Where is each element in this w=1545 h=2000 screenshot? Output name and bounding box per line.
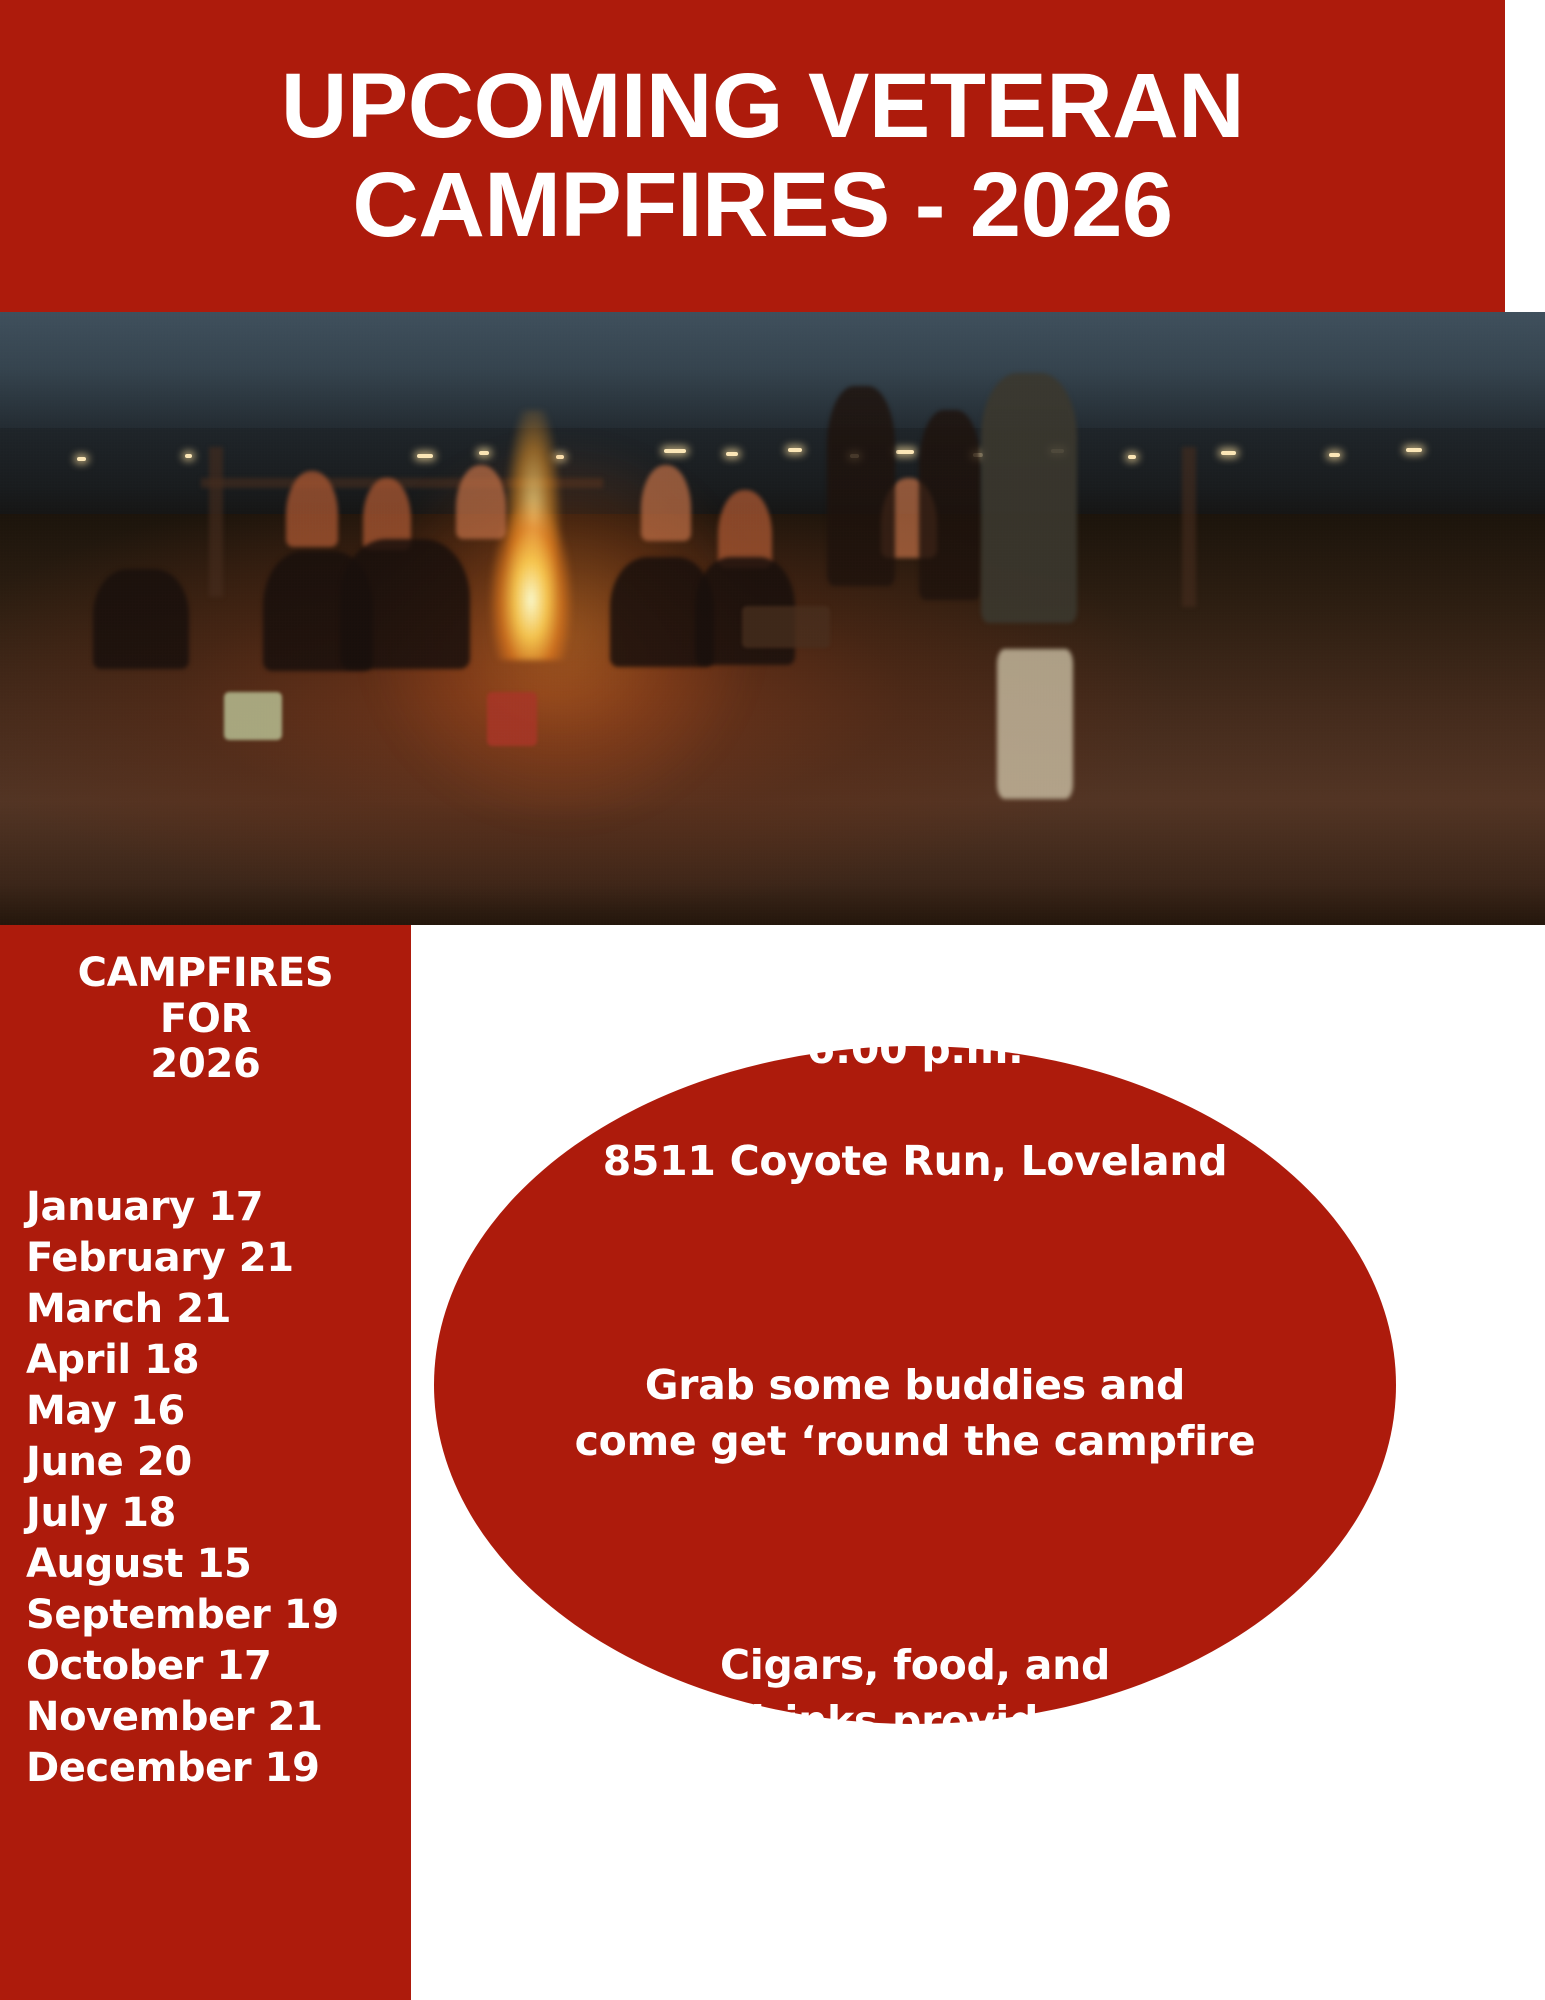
header-banner: UPCOMING VETERAN CAMPFIRES - 2026 <box>0 0 1505 312</box>
list-item: July 18 <box>26 1488 411 1539</box>
list-item: September 19 <box>26 1590 411 1641</box>
event-details-text: 6:00 p.m. 8511 Coyote Run, Loveland Grab… <box>505 965 1325 1805</box>
list-item: January 17 <box>26 1182 411 1233</box>
list-item: October 17 <box>26 1641 411 1692</box>
event-address: 8511 Coyote Run, Loveland <box>505 1133 1325 1189</box>
seated-person <box>456 465 506 539</box>
seated-person <box>641 465 691 541</box>
green-cooler <box>224 692 282 740</box>
list-item: November 21 <box>26 1692 411 1743</box>
sidebar-heading: CAMPFIRES FOR 2026 <box>0 925 411 1088</box>
list-item: February 21 <box>26 1233 411 1284</box>
fence-post-left <box>209 447 223 597</box>
page-title: UPCOMING VETERAN CAMPFIRES - 2026 <box>123 57 1403 256</box>
camp-chair <box>340 539 470 669</box>
seated-person <box>286 471 338 547</box>
list-item: August 15 <box>26 1539 411 1590</box>
event-invitation: Grab some buddies and come get ‘round th… <box>505 1357 1325 1469</box>
campfire-dates-list: January 17 February 21 March 21 April 18… <box>0 1088 411 1794</box>
standing-person <box>919 410 981 600</box>
city-lights <box>0 435 1545 472</box>
spacer <box>505 1245 1325 1301</box>
standing-person-light-pants <box>997 649 1073 799</box>
event-details-ellipse: 6:00 p.m. 8511 Coyote Run, Loveland Grab… <box>434 1046 1396 1724</box>
list-item: June 20 <box>26 1437 411 1488</box>
fence-post-right <box>1182 447 1196 607</box>
spacer <box>505 1525 1325 1581</box>
poster-canvas: UPCOMING VETERAN CAMPFIRES - 2026 <box>0 0 1545 2000</box>
campfire-dates-sidebar: CAMPFIRES FOR 2026 January 17 February 2… <box>0 925 411 2000</box>
standing-person <box>981 373 1077 623</box>
standing-person <box>827 386 895 586</box>
list-item: December 19 <box>26 1743 411 1794</box>
event-time: 6:00 p.m. <box>505 1021 1325 1077</box>
list-item: March 21 <box>26 1284 411 1335</box>
list-item: April 18 <box>26 1335 411 1386</box>
list-item: May 16 <box>26 1386 411 1437</box>
red-cooler <box>487 692 537 746</box>
campfire-photo <box>0 312 1545 925</box>
camp-chair <box>93 569 189 669</box>
side-table <box>742 606 830 648</box>
event-provisions: Cigars, food, and drinks provided <box>505 1637 1325 1749</box>
